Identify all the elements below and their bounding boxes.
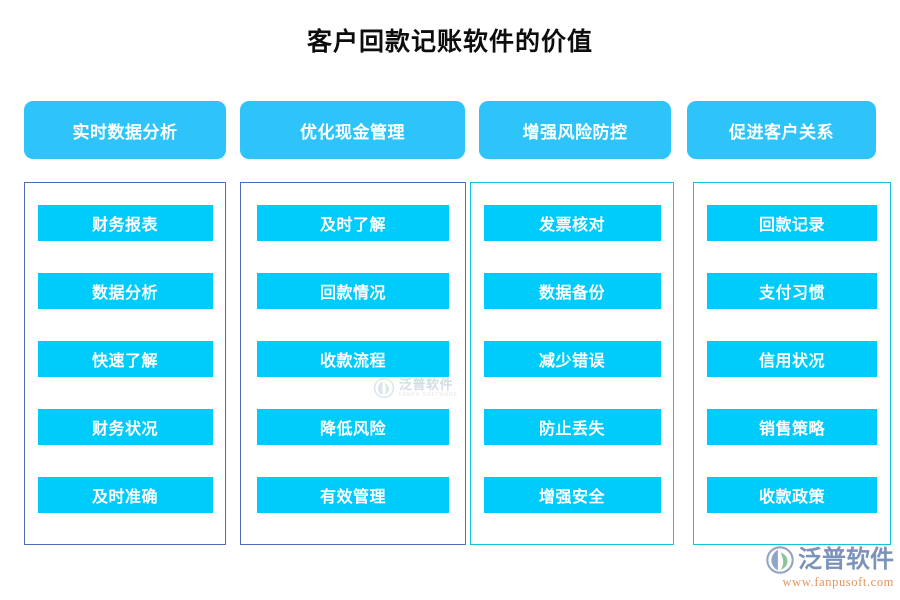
- fanpu-logo-icon: [766, 546, 794, 574]
- category-header-row: 实时数据分析 优化现金管理 增强风险防控 促进客户关系: [0, 101, 900, 159]
- list-item-label: 快速了解: [92, 347, 158, 371]
- category-columns: 财务报表 数据分析 快速了解 财务状况 及时准确 及时了解 回款情况 收款流程 …: [0, 182, 900, 546]
- list-item-label: 发票核对: [539, 211, 605, 235]
- list-item[interactable]: 数据分析: [38, 273, 213, 309]
- list-item[interactable]: 降低风险: [257, 409, 449, 445]
- category-column-realtime-data-analysis: 财务报表 数据分析 快速了解 财务状况 及时准确: [24, 182, 226, 545]
- category-header-label: 优化现金管理: [300, 118, 405, 143]
- category-column-promote-customer-relations: 回款记录 支付习惯 信用状况 销售策略 收款政策: [693, 182, 891, 545]
- list-item[interactable]: 收款流程: [257, 341, 449, 377]
- item-list: 财务报表 数据分析 快速了解 财务状况 及时准确: [25, 205, 225, 513]
- list-item-label: 信用状况: [759, 347, 825, 371]
- category-column-enhance-risk-control: 发票核对 数据备份 减少错误 防止丢失 增强安全: [470, 182, 674, 545]
- list-item[interactable]: 财务报表: [38, 205, 213, 241]
- list-item[interactable]: 增强安全: [484, 477, 661, 513]
- list-item[interactable]: 快速了解: [38, 341, 213, 377]
- item-list: 及时了解 回款情况 收款流程 降低风险 有效管理: [241, 205, 465, 513]
- brand-logo: 泛普软件 www.fanpusoft.com: [766, 546, 894, 590]
- brand-logo-row: 泛普软件: [766, 546, 894, 574]
- list-item[interactable]: 信用状况: [707, 341, 877, 377]
- list-item-label: 财务状况: [92, 415, 158, 439]
- category-header-label: 实时数据分析: [73, 118, 178, 143]
- list-item[interactable]: 回款情况: [257, 273, 449, 309]
- list-item[interactable]: 财务状况: [38, 409, 213, 445]
- list-item[interactable]: 减少错误: [484, 341, 661, 377]
- page-title: 客户回款记账软件的价值: [0, 22, 900, 58]
- list-item[interactable]: 及时准确: [38, 477, 213, 513]
- list-item-label: 数据分析: [92, 279, 158, 303]
- list-item[interactable]: 有效管理: [257, 477, 449, 513]
- list-item[interactable]: 收款政策: [707, 477, 877, 513]
- brand-url: www.fanpusoft.com: [783, 575, 894, 590]
- list-item-label: 财务报表: [92, 211, 158, 235]
- category-header-label: 促进客户关系: [729, 118, 834, 143]
- list-item[interactable]: 及时了解: [257, 205, 449, 241]
- list-item-label: 回款情况: [320, 279, 386, 303]
- list-item[interactable]: 防止丢失: [484, 409, 661, 445]
- list-item[interactable]: 销售策略: [707, 409, 877, 445]
- list-item-label: 减少错误: [539, 347, 605, 371]
- list-item-label: 增强安全: [539, 483, 605, 507]
- category-header-realtime-data-analysis[interactable]: 实时数据分析: [24, 101, 226, 159]
- category-header-enhance-risk-control[interactable]: 增强风险防控: [479, 101, 671, 159]
- list-item-label: 有效管理: [320, 483, 386, 507]
- category-header-label: 增强风险防控: [523, 118, 628, 143]
- category-column-optimize-cash-management: 及时了解 回款情况 收款流程 降低风险 有效管理: [240, 182, 466, 545]
- brand-name-cn: 泛普软件: [798, 548, 894, 572]
- list-item[interactable]: 数据备份: [484, 273, 661, 309]
- item-list: 回款记录 支付习惯 信用状况 销售策略 收款政策: [694, 205, 890, 513]
- list-item-label: 销售策略: [759, 415, 825, 439]
- list-item[interactable]: 发票核对: [484, 205, 661, 241]
- list-item-label: 收款政策: [759, 483, 825, 507]
- list-item-label: 收款流程: [320, 347, 386, 371]
- list-item-label: 数据备份: [539, 279, 605, 303]
- list-item-label: 及时准确: [92, 483, 158, 507]
- list-item-label: 及时了解: [320, 211, 386, 235]
- list-item[interactable]: 支付习惯: [707, 273, 877, 309]
- list-item-label: 防止丢失: [539, 415, 605, 439]
- category-header-promote-customer-relations[interactable]: 促进客户关系: [687, 101, 876, 159]
- category-header-optimize-cash-management[interactable]: 优化现金管理: [240, 101, 465, 159]
- list-item-label: 回款记录: [759, 211, 825, 235]
- list-item-label: 支付习惯: [759, 279, 825, 303]
- list-item-label: 降低风险: [320, 415, 386, 439]
- list-item[interactable]: 回款记录: [707, 205, 877, 241]
- item-list: 发票核对 数据备份 减少错误 防止丢失 增强安全: [471, 205, 673, 513]
